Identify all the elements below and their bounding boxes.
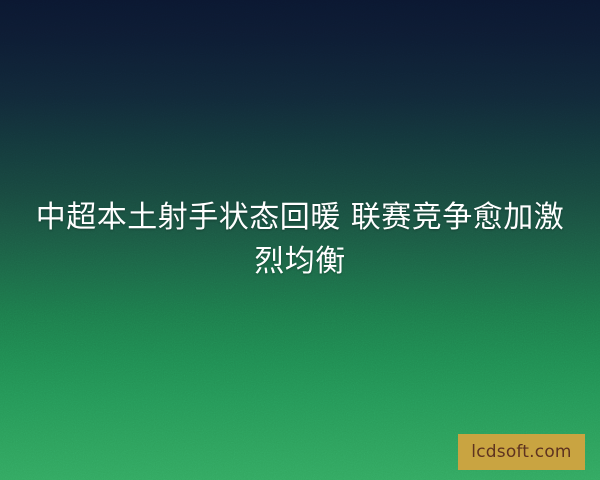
title-card: 中超本土射手状态回暖 联赛竞争愈加激烈均衡 lcdsoft.com [0, 0, 600, 480]
headline-container: 中超本土射手状态回暖 联赛竞争愈加激烈均衡 [0, 196, 600, 284]
watermark-label: lcdsoft.com [471, 444, 571, 461]
page-title: 中超本土射手状态回暖 联赛竞争愈加激烈均衡 [28, 196, 572, 284]
watermark-badge: lcdsoft.com [458, 434, 585, 470]
